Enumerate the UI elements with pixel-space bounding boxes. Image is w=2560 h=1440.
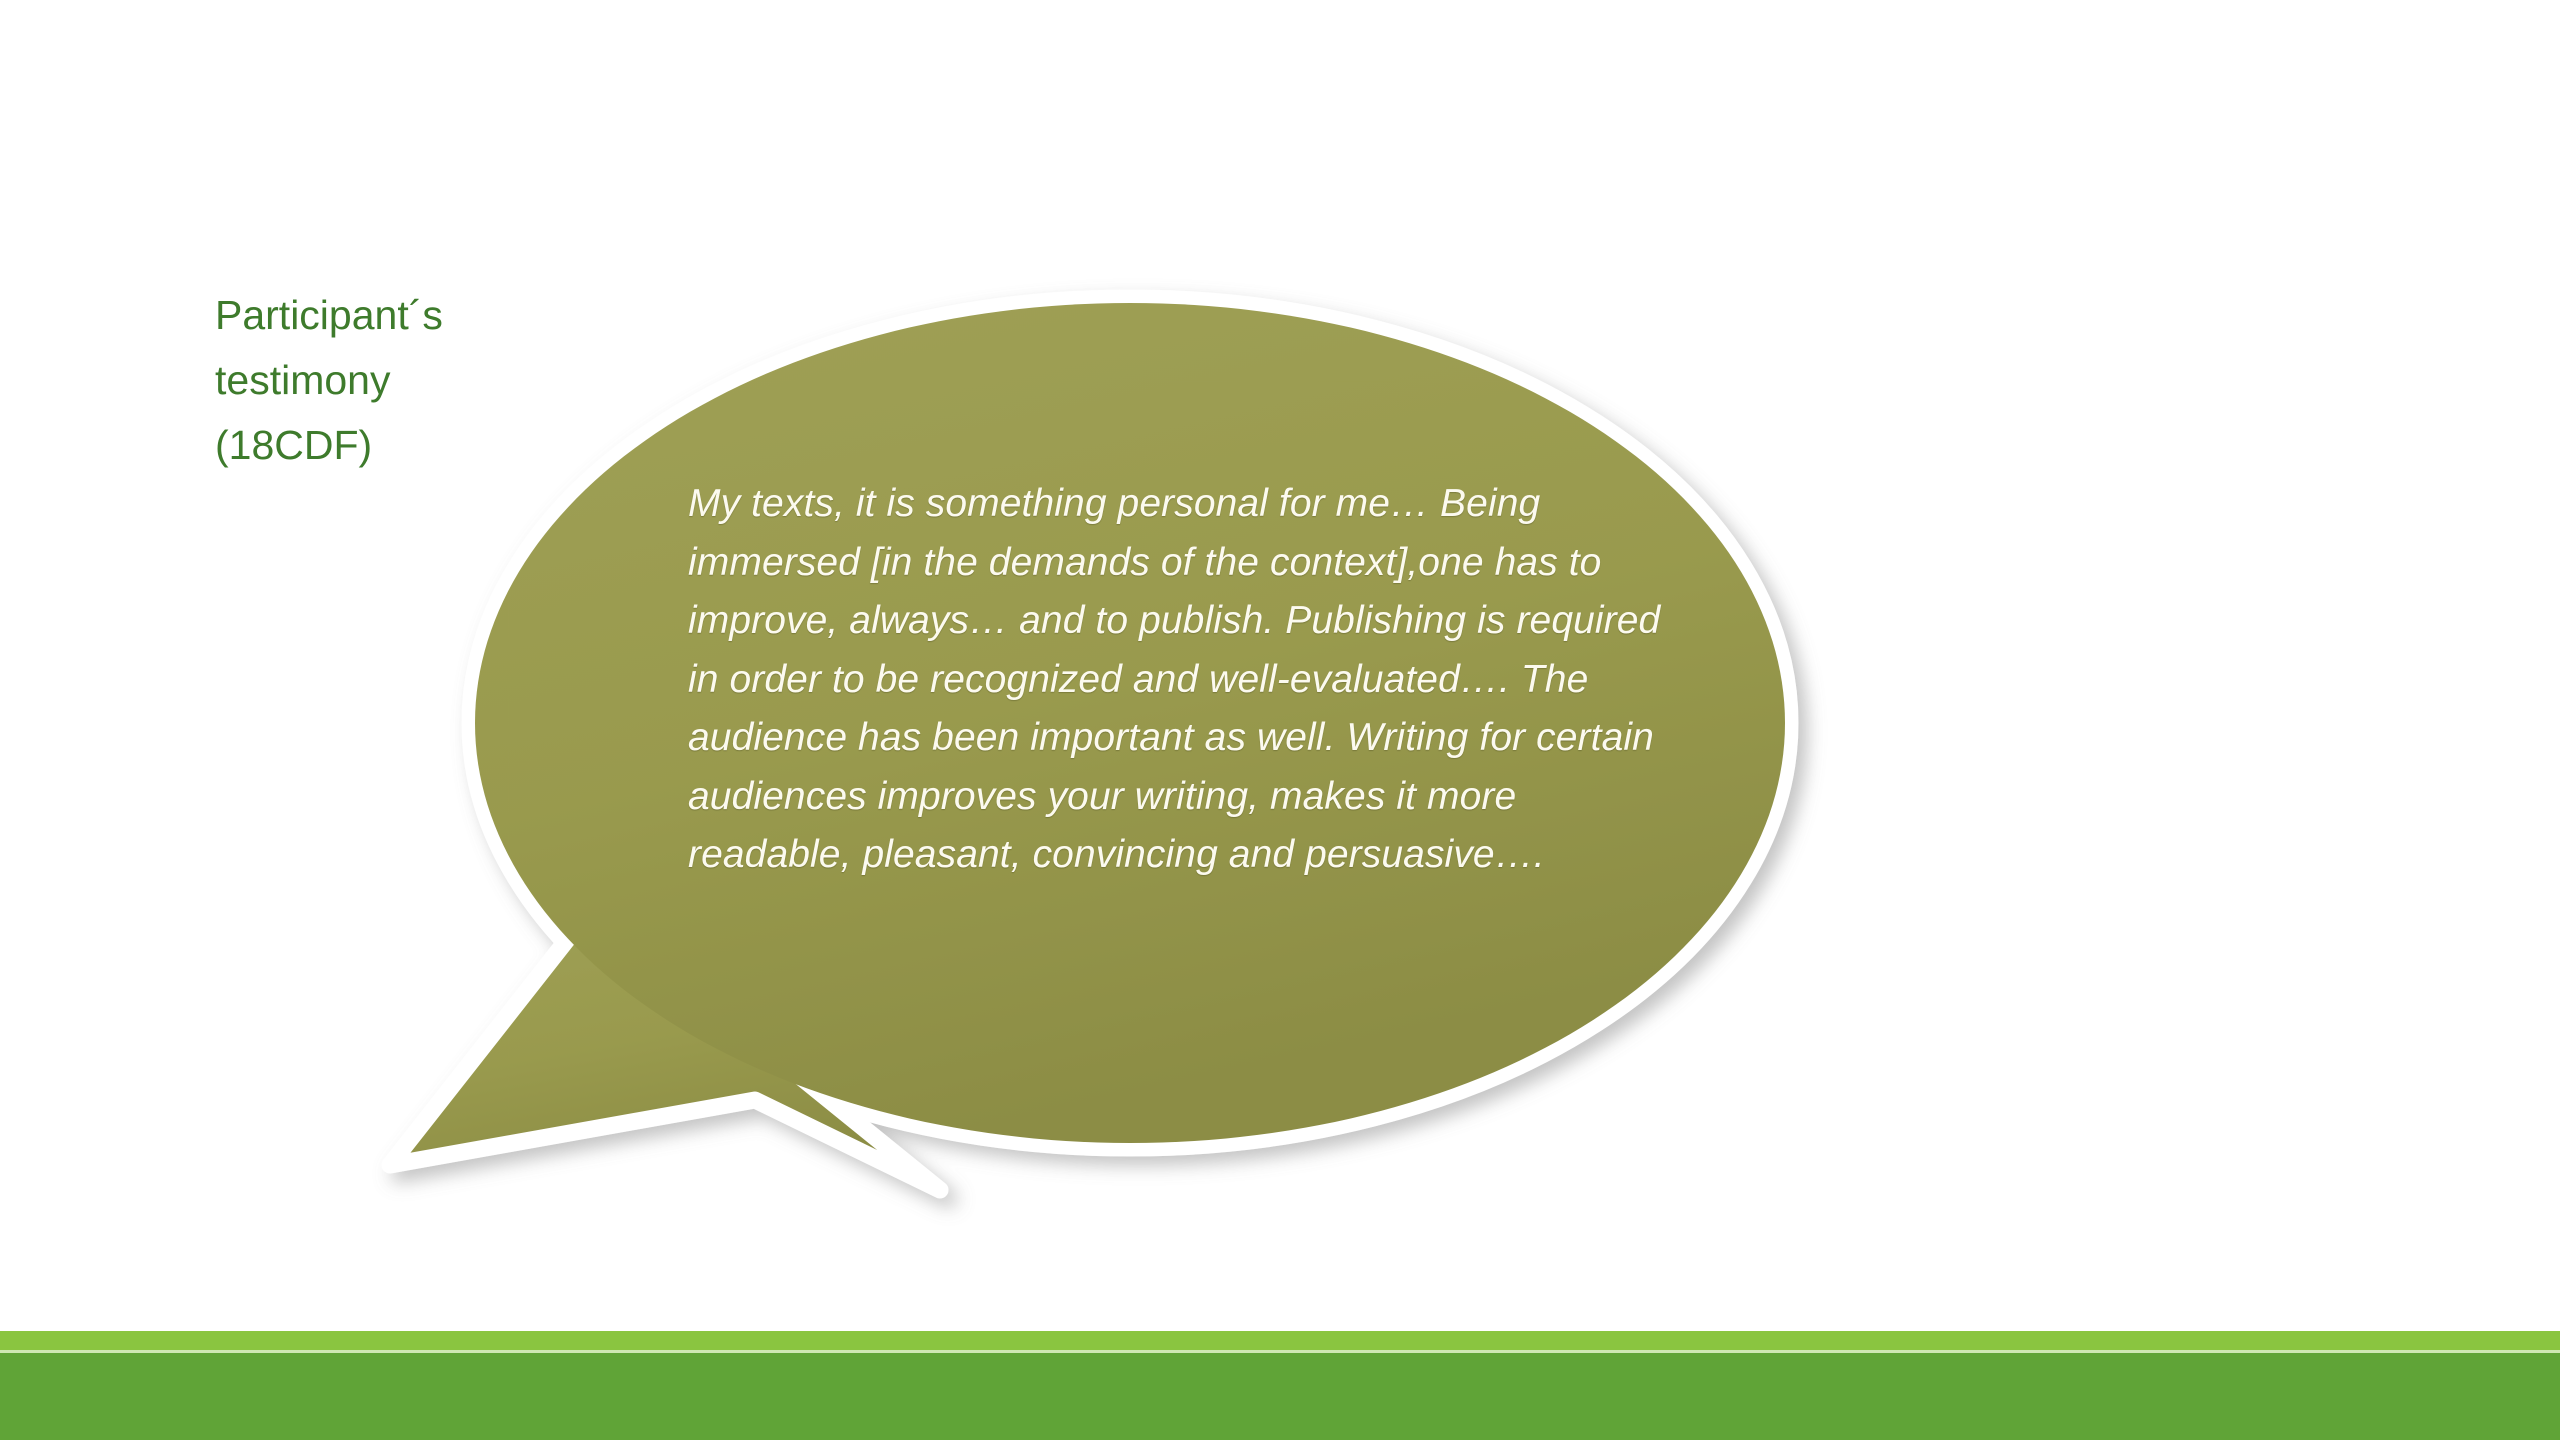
slide-canvas: Participant´s testimony (18CDF) — [0, 0, 2560, 1440]
quote-bubble[interactable]: My texts, it is something personal for m… — [430, 285, 1830, 1185]
footer-dark-bar — [0, 1353, 2560, 1440]
quote-text: My texts, it is something personal for m… — [688, 475, 1678, 885]
footer-light-bar — [0, 1331, 2560, 1350]
